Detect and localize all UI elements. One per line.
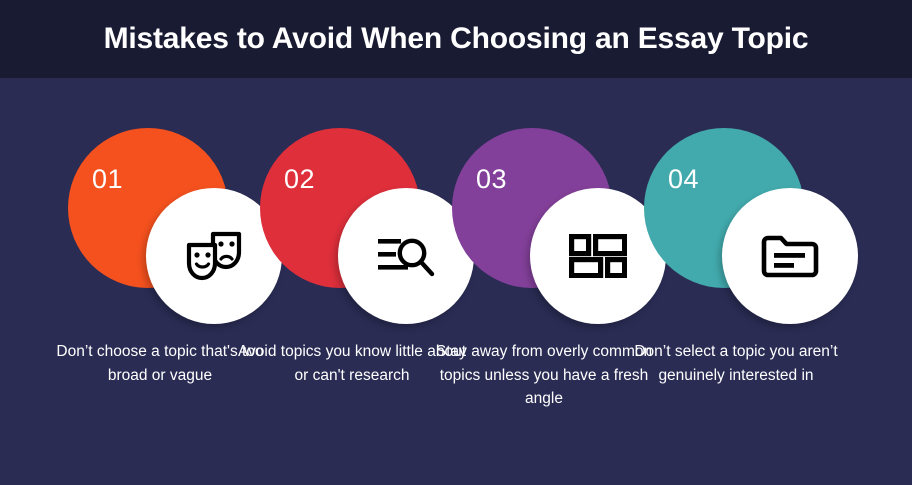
theater-masks-icon bbox=[183, 230, 245, 282]
infographic-root: Mistakes to Avoid When Choosing an Essay… bbox=[0, 0, 912, 485]
step-number-label: 01 bbox=[92, 166, 123, 193]
step-number-label: 03 bbox=[476, 166, 507, 193]
grid-dashboard-icon bbox=[569, 234, 627, 278]
page-title: Mistakes to Avoid When Choosing an Essay… bbox=[104, 22, 809, 56]
step-icon-circle bbox=[722, 188, 858, 324]
search-list-icon bbox=[376, 233, 436, 279]
folder-lines-icon bbox=[761, 233, 819, 279]
header-band: Mistakes to Avoid When Choosing an Essay… bbox=[0, 0, 912, 78]
step-number-label: 04 bbox=[668, 166, 699, 193]
steps-row: 01 Don’t c bbox=[0, 78, 912, 485]
step-caption: Don’t select a topic you aren’t genuinel… bbox=[620, 340, 852, 387]
step-item-04: 04 Don’t select a topic you aren’t genui… bbox=[622, 78, 850, 485]
step-number-label: 02 bbox=[284, 166, 315, 193]
